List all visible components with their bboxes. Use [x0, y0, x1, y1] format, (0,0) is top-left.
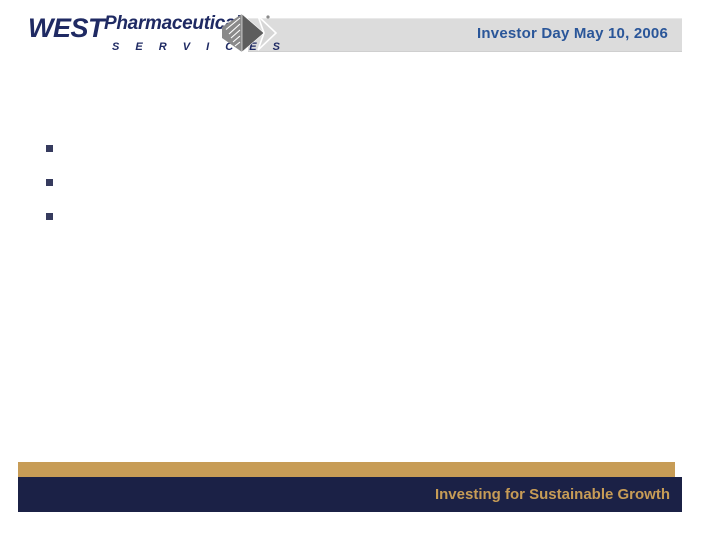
list-item[interactable] — [46, 140, 666, 174]
slide-content-body — [46, 140, 666, 242]
footer-tagline: Investing for Sustainable Growth — [18, 477, 670, 512]
footer-gold-bar — [18, 462, 675, 477]
list-item[interactable] — [46, 174, 666, 208]
square-bullet-icon — [46, 145, 53, 152]
square-bullet-icon — [46, 213, 53, 220]
header-title: Investor Day May 10, 2006 — [248, 18, 668, 50]
presentation-slide: Investor Day May 10, 2006 WESTPharmaceut… — [0, 0, 720, 540]
logo-wordmark: WESTPharmaceutical — [28, 13, 240, 44]
logo-west-text: WEST — [28, 13, 104, 43]
west-diamond-chevron-icon — [218, 12, 278, 54]
square-bullet-icon — [46, 179, 53, 186]
list-item[interactable] — [46, 208, 666, 242]
company-logo[interactable]: WESTPharmaceutical S E R V I C E S — [28, 11, 260, 53]
